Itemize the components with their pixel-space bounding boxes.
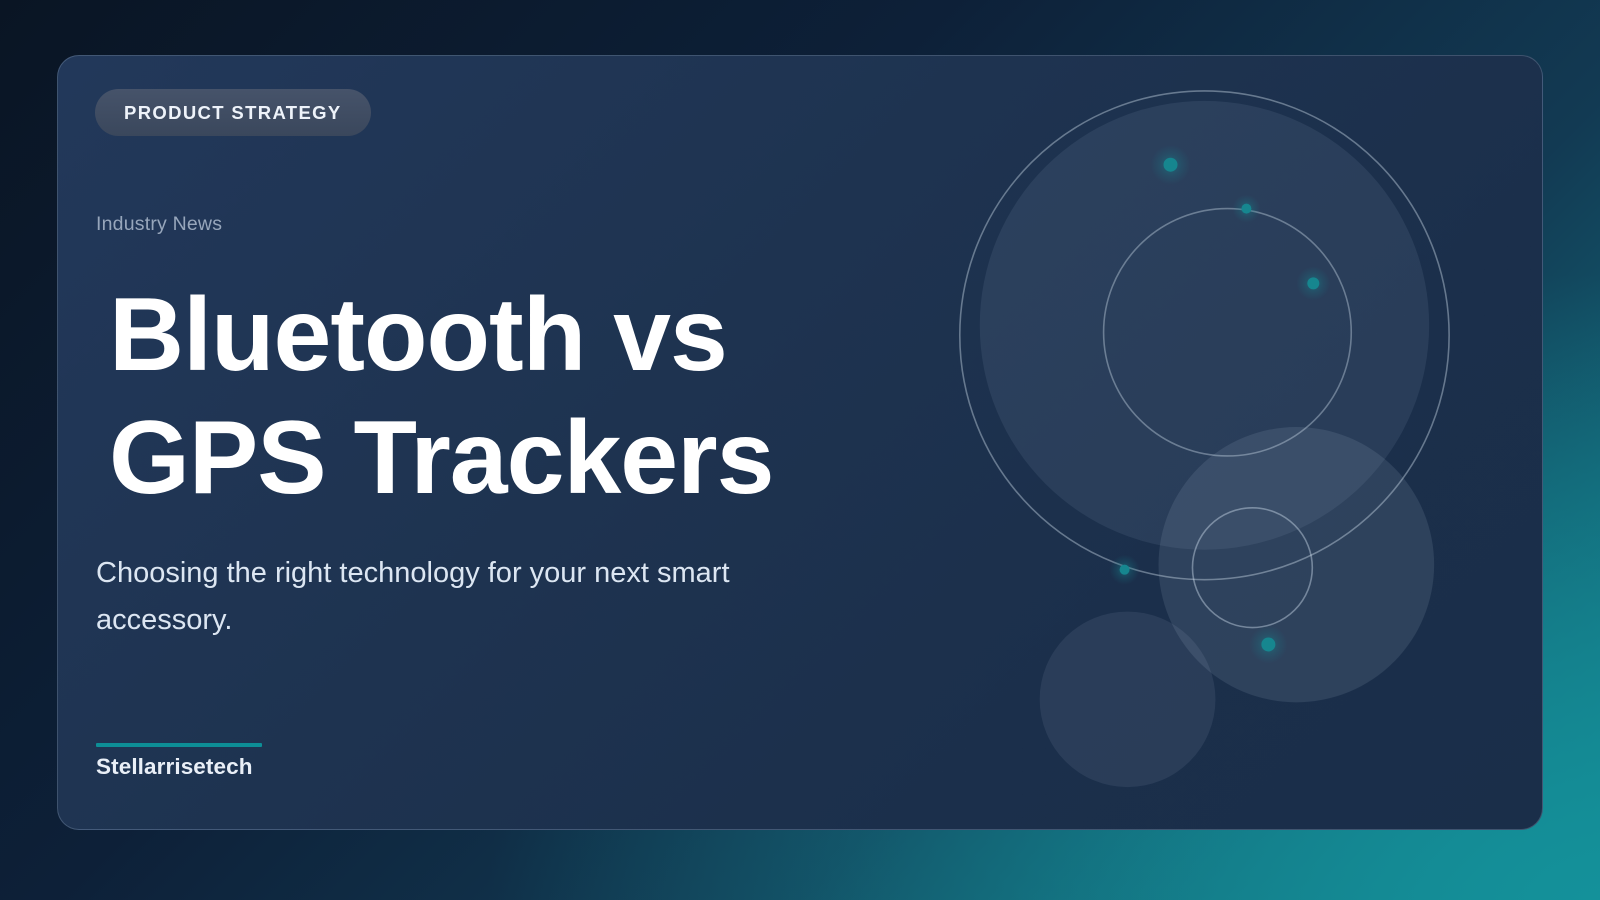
disc-large <box>980 101 1429 550</box>
slide-canvas: PRODUCT STRATEGY Industry News Bluetooth… <box>0 0 1600 900</box>
signal-dot-3 <box>1296 266 1330 300</box>
content-card: PRODUCT STRATEGY Industry News Bluetooth… <box>57 55 1543 830</box>
disc-medium <box>1159 427 1435 702</box>
outer-ring <box>960 91 1449 580</box>
disc-small <box>1040 612 1216 788</box>
signal-dot-4 <box>1110 555 1140 585</box>
signal-dot-2 <box>1232 195 1260 223</box>
signal-dot-1 <box>1151 145 1191 185</box>
card-content: PRODUCT STRATEGY Industry News Bluetooth… <box>95 56 915 829</box>
category-badge[interactable]: PRODUCT STRATEGY <box>95 89 371 136</box>
inner-ring <box>1192 508 1312 628</box>
mid-ring <box>1104 209 1352 456</box>
accent-divider <box>96 743 262 747</box>
brand-name: Stellarrisetech <box>96 754 253 780</box>
signal-dot-5 <box>1249 626 1287 664</box>
kicker-label: Industry News <box>96 213 222 236</box>
page-title: Bluetooth vs GPS Trackers <box>109 274 899 519</box>
subtitle-text: Choosing the right technology for your n… <box>96 550 826 644</box>
